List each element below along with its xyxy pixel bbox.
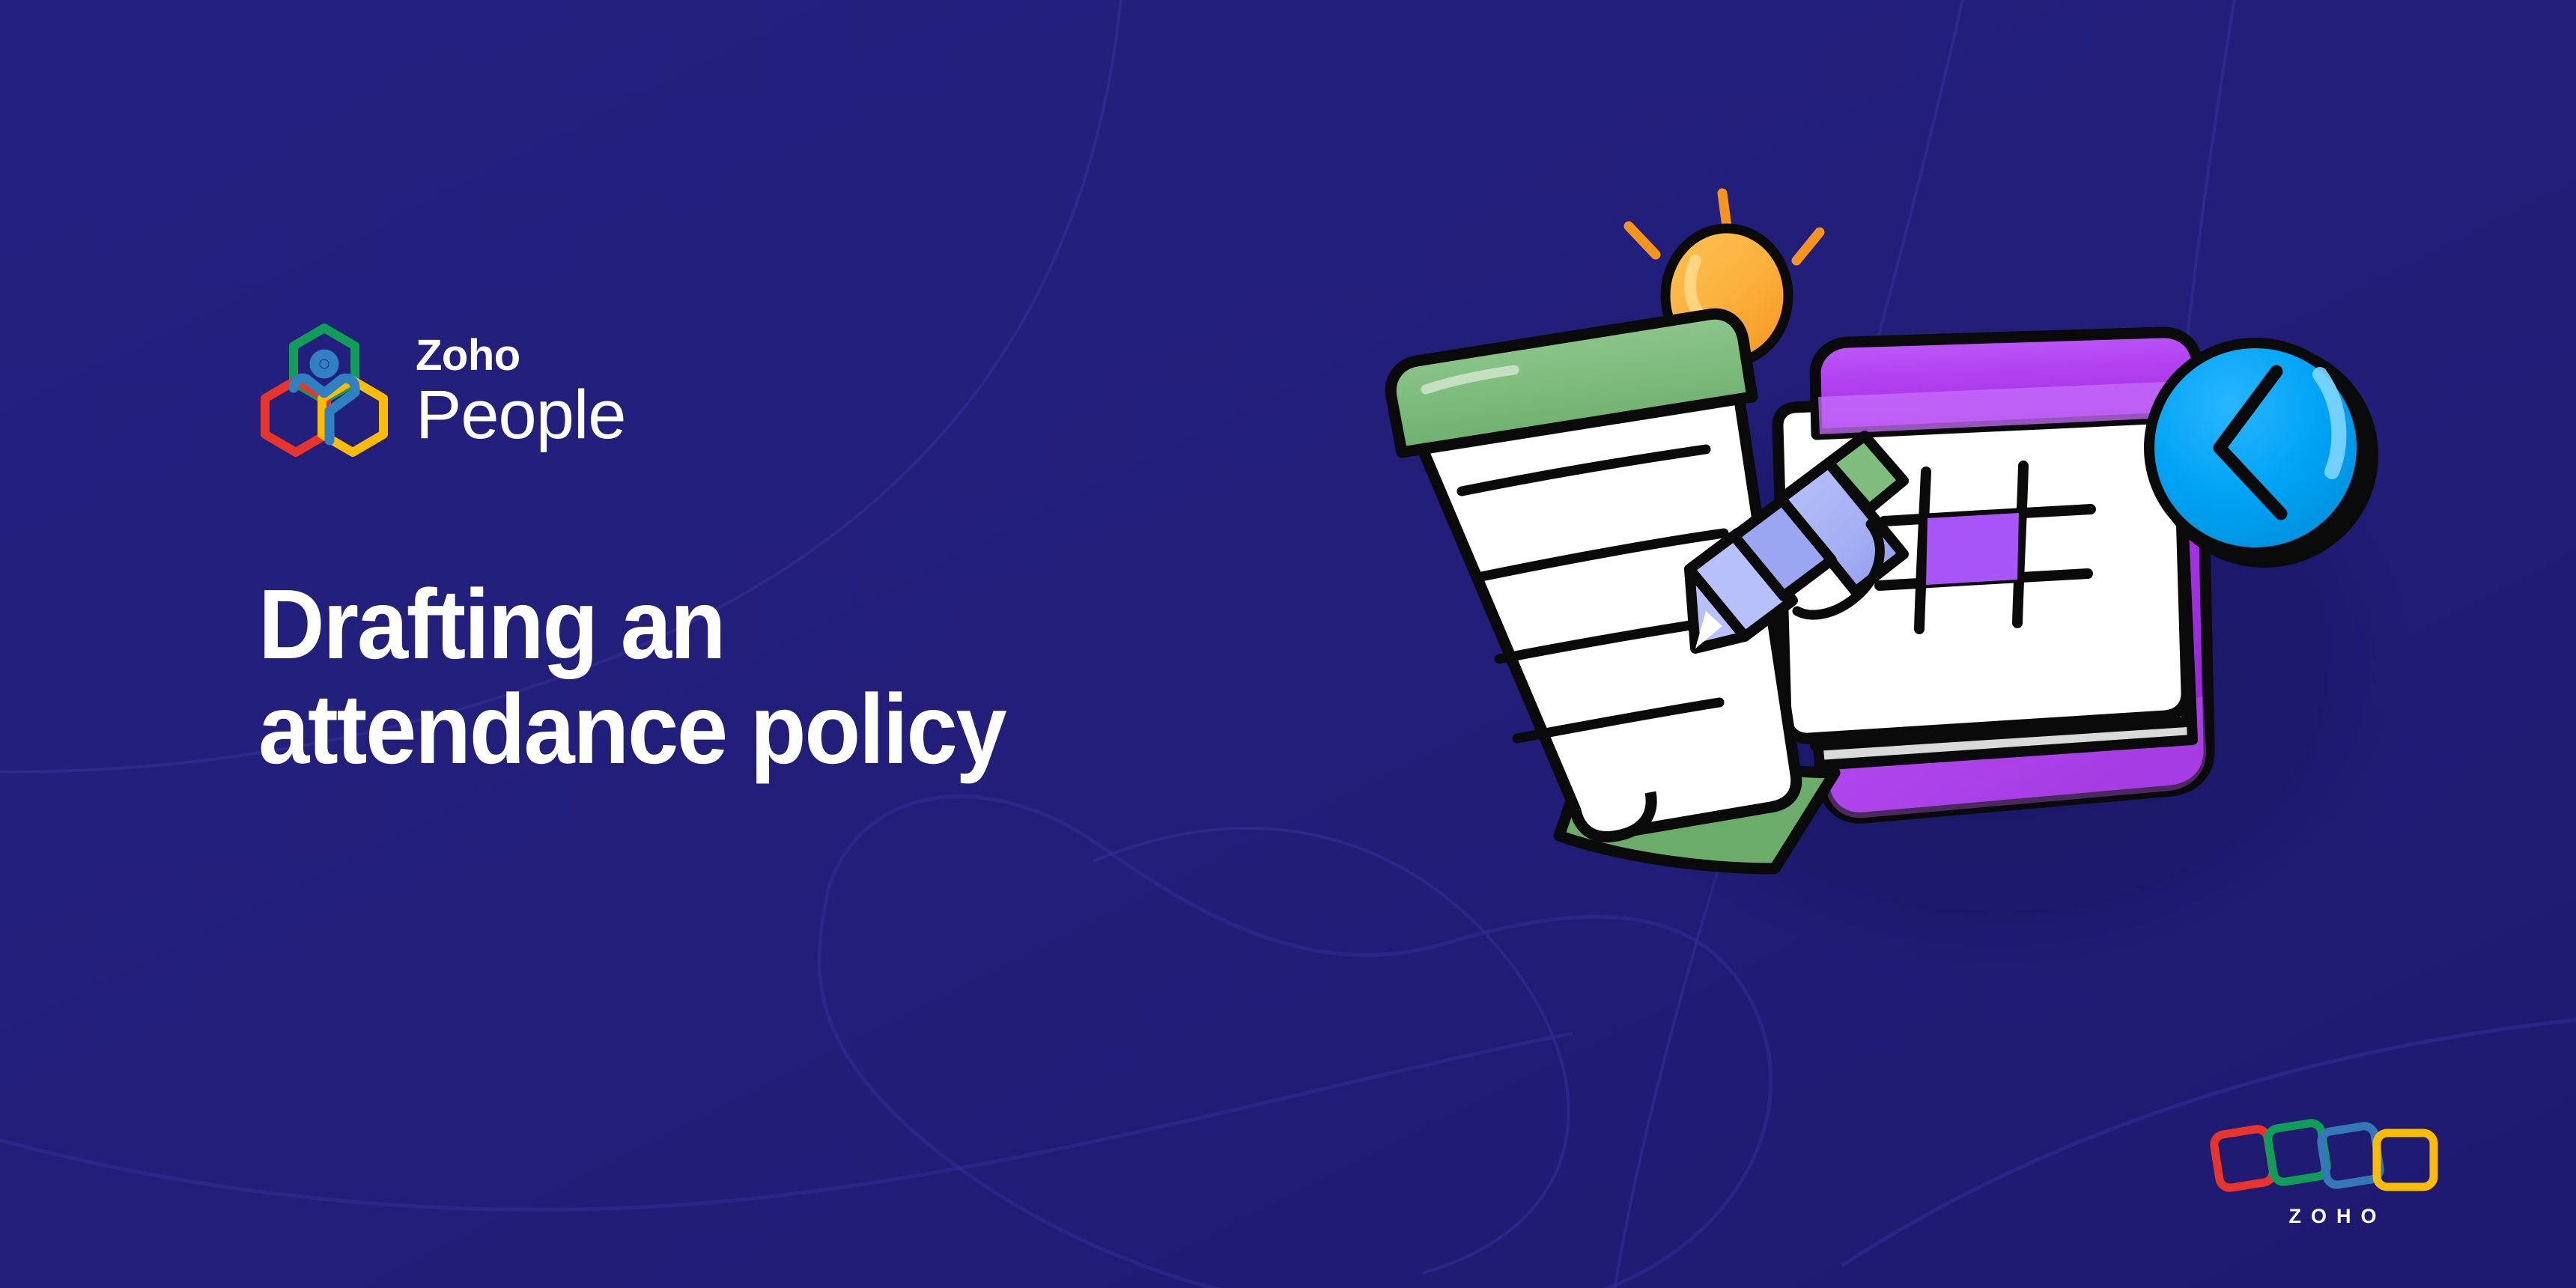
banner-content: Zoho People Drafting an attendance polic… [258, 322, 1382, 782]
zoho-people-banner: Zoho People Drafting an attendance polic… [0, 0, 2576, 1288]
calendar-marked-cell [1926, 513, 2019, 585]
zoho-people-logo: Zoho People [258, 322, 1382, 461]
zoho-corporate-logo-mark [2209, 1112, 2456, 1198]
banner-headline: Drafting an attendance policy [258, 572, 1199, 782]
logo-square-yellow [2377, 1133, 2434, 1187]
person-head-dot [321, 360, 329, 368]
lightbulb-highlight [1690, 261, 1697, 311]
clock-face [2149, 343, 2362, 553]
logo-brand-text: Zoho [416, 334, 625, 377]
headline-line-1: Drafting an [258, 572, 1199, 677]
zoho-corporate-logo[interactable]: ZOHO [2209, 1112, 2456, 1228]
zoho-people-wordmark: Zoho People [416, 334, 625, 449]
clock-icon [2149, 343, 2378, 568]
hero-illustration [1370, 172, 2576, 1056]
logo-product-text: People [416, 380, 625, 449]
headline-line-2: attendance policy [258, 677, 1199, 782]
zoho-people-logo-mark [258, 322, 390, 461]
zoho-corporate-wordmark: ZOHO [2279, 1205, 2387, 1228]
